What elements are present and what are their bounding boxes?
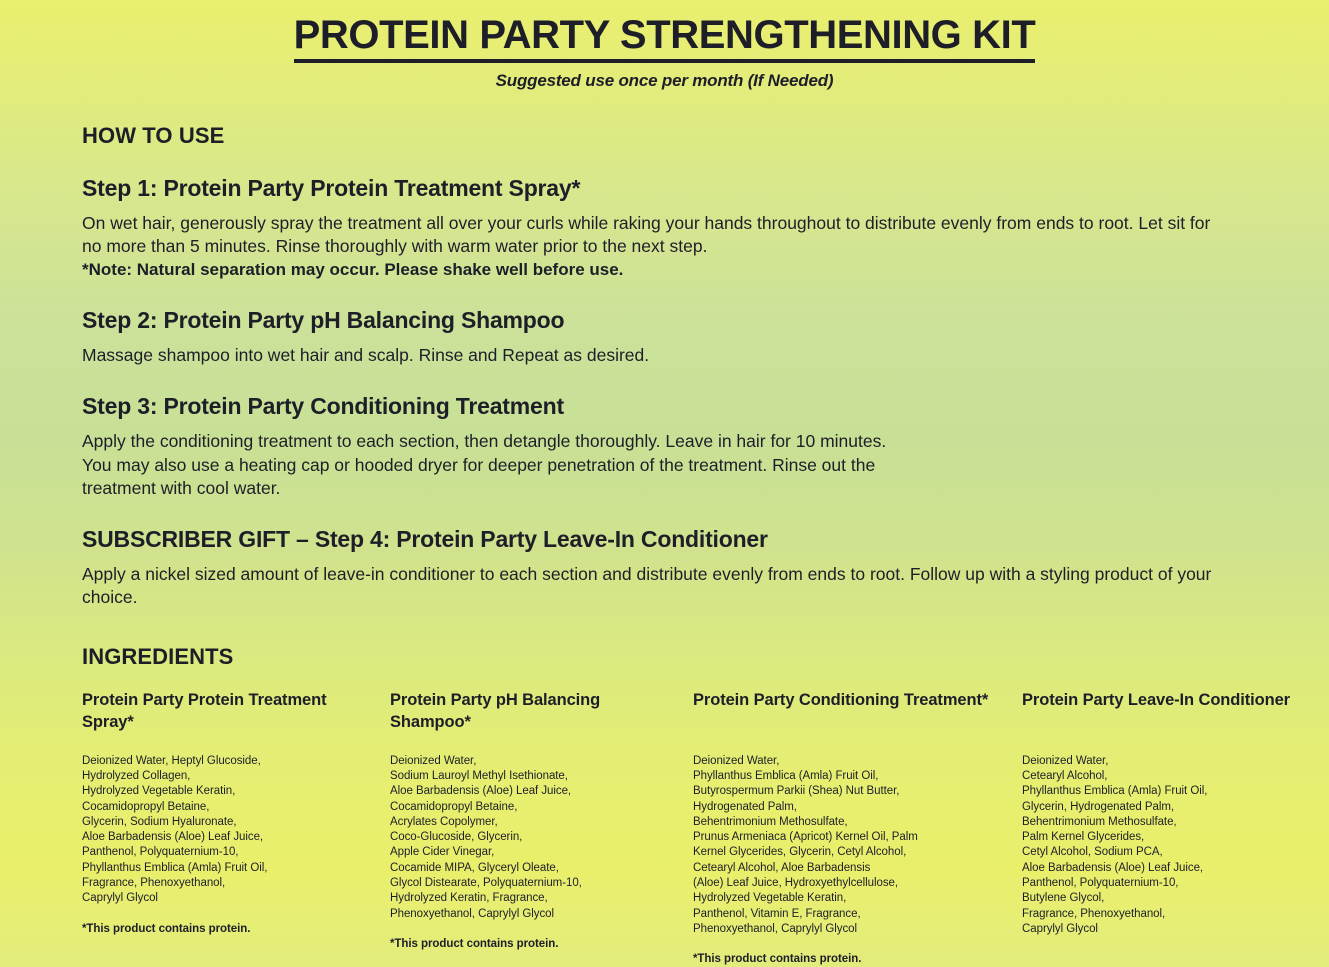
- step-3-body: Apply the conditioning treatment to each…: [82, 430, 912, 500]
- step-4-body: Apply a nickel sized amount of leave-in …: [82, 563, 1222, 610]
- ingredients-heading: INGREDIENTS: [82, 644, 1329, 670]
- step-2-block: Step 2: Protein Party pH Balancing Shamp…: [82, 307, 1329, 367]
- usage-frequency-subtitle: Suggested use once per month (If Needed): [0, 71, 1329, 91]
- ingredients-list: Deionized Water, Sodium Lauroyl Methyl I…: [390, 754, 679, 922]
- ingredients-footnote: *This product contains protein.: [693, 953, 1008, 967]
- step-4-block: SUBSCRIBER GIFT – Step 4: Protein Party …: [82, 526, 1329, 610]
- how-to-use-heading: HOW TO USE: [82, 123, 1329, 149]
- step-1-heading: Step 1: Protein Party Protein Treatment …: [82, 175, 1329, 202]
- ingredients-list: Deionized Water, Cetearyl Alcohol, Phyll…: [1022, 754, 1308, 937]
- ingredients-grid: Protein Party Protein Treatment Spray* D…: [82, 690, 1329, 967]
- step-1-body: On wet hair, generously spray the treatm…: [82, 212, 1222, 259]
- step-1-note: *Note: Natural separation may occur. Ple…: [82, 259, 1329, 282]
- ingredients-footnote: *This product contains protein.: [390, 938, 679, 952]
- ingredients-product-name: Protein Party Protein Treatment Spray*: [82, 690, 376, 734]
- step-2-body: Massage shampoo into wet hair and scalp.…: [82, 344, 1222, 367]
- ingredients-product-name: Protein Party pH Balancing Shampoo*: [390, 690, 679, 734]
- ingredients-column-treatment-spray: Protein Party Protein Treatment Spray* D…: [82, 690, 390, 967]
- ingredients-footnote: *This product contains protein.: [82, 923, 376, 937]
- step-2-heading: Step 2: Protein Party pH Balancing Shamp…: [82, 307, 1329, 334]
- product-instruction-card: PROTEIN PARTY STRENGTHENING KIT Suggeste…: [0, 0, 1329, 876]
- page-title: PROTEIN PARTY STRENGTHENING KIT: [294, 14, 1036, 63]
- step-3-heading: Step 3: Protein Party Conditioning Treat…: [82, 393, 1329, 420]
- step-1-block: Step 1: Protein Party Protein Treatment …: [82, 175, 1329, 281]
- ingredients-list: Deionized Water, Phyllanthus Emblica (Am…: [693, 754, 1008, 937]
- step-4-heading: SUBSCRIBER GIFT – Step 4: Protein Party …: [82, 526, 1329, 553]
- ingredients-product-name: Protein Party Leave-In Conditioner: [1022, 690, 1308, 734]
- ingredients-column-conditioning-treatment: Protein Party Conditioning Treatment* De…: [693, 690, 1022, 967]
- ingredients-column-leave-in-conditioner: Protein Party Leave-In Conditioner Deion…: [1022, 690, 1322, 967]
- card-header: PROTEIN PARTY STRENGTHENING KIT Suggeste…: [0, 0, 1329, 91]
- instructions-section: HOW TO USE Step 1: Protein Party Protein…: [0, 123, 1329, 967]
- ingredients-footnote: [1022, 953, 1308, 967]
- ingredients-column-ph-shampoo: Protein Party pH Balancing Shampoo* Deio…: [390, 690, 693, 967]
- step-3-block: Step 3: Protein Party Conditioning Treat…: [82, 393, 1329, 500]
- ingredients-list: Deionized Water, Heptyl Glucoside, Hydro…: [82, 754, 376, 907]
- ingredients-product-name: Protein Party Conditioning Treatment*: [693, 690, 1008, 734]
